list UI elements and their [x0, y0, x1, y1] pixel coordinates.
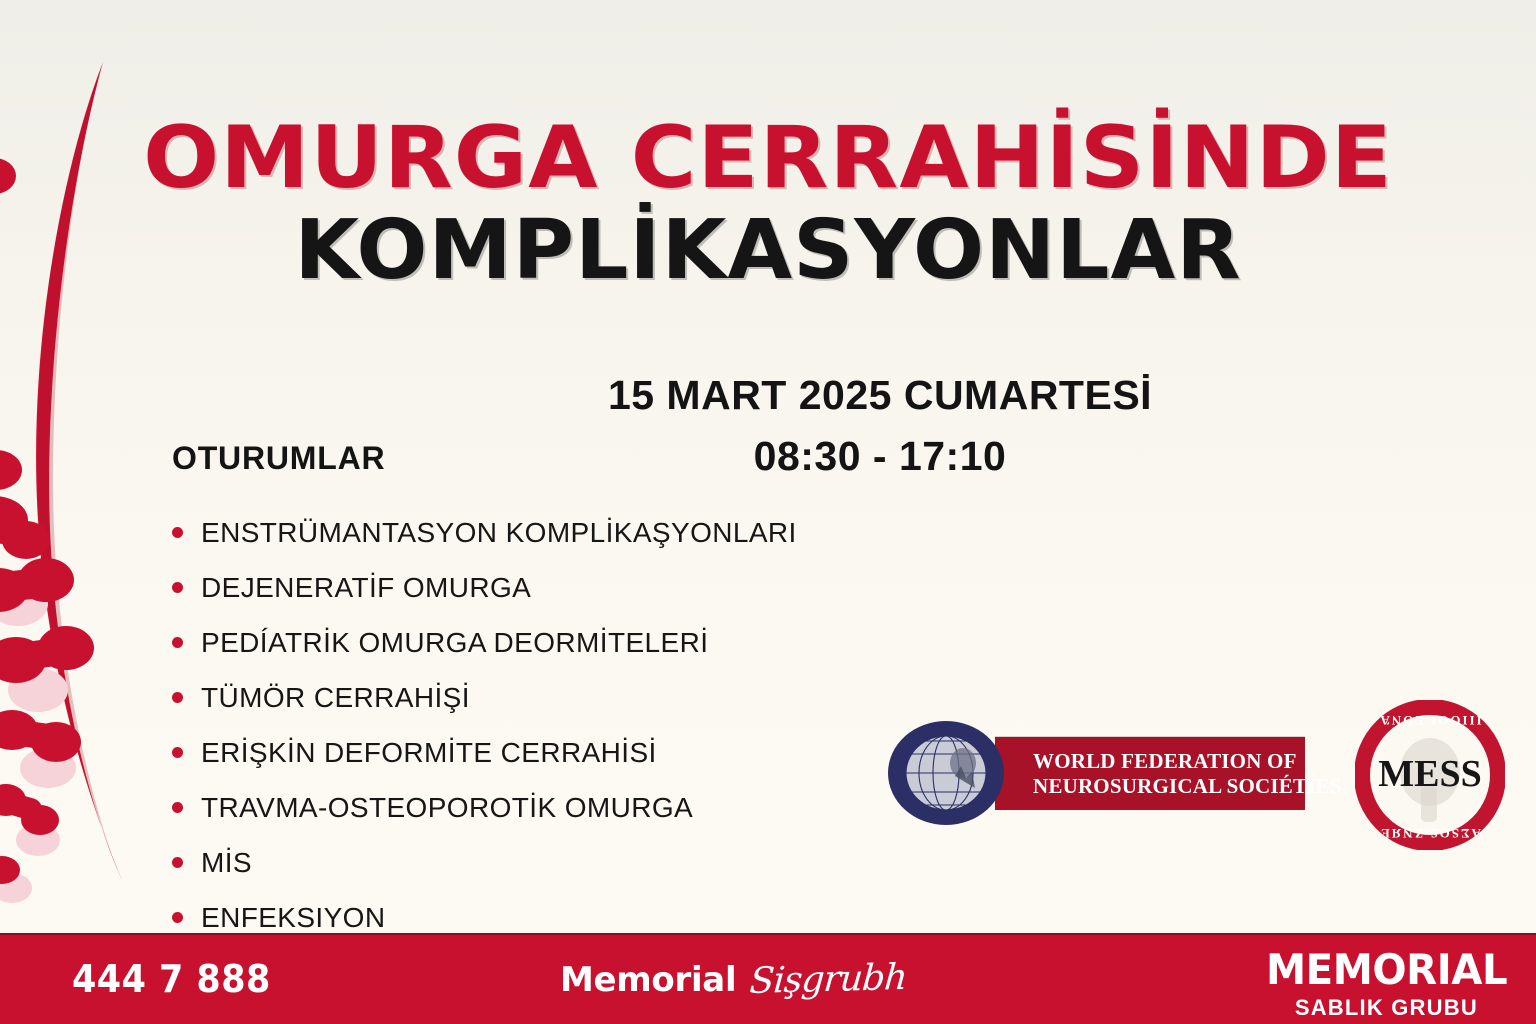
- session-item: DEJENERATİF OMURGA: [172, 560, 797, 615]
- session-label: MİS: [201, 847, 252, 879]
- event-time: 08:30 - 17:10: [430, 433, 1330, 480]
- footer-memorial-word: Memorial: [560, 960, 736, 1000]
- session-item: PEDÍATRİK OMURGA DEORMİTELERİ: [172, 615, 797, 670]
- footer-script-word: Sişgrubh: [749, 957, 909, 1002]
- session-label: ENFEKSIYON: [201, 902, 385, 934]
- bullet-icon: [172, 692, 183, 703]
- session-item: ERİŞKİN DEFORMİTE CERRAHİSİ: [172, 725, 797, 780]
- wfns-line-1: WORLD FEDERATION OF: [1033, 749, 1305, 774]
- footer-phone-number[interactable]: 444 7 888: [72, 957, 271, 1001]
- wfns-globe-seal-icon: [885, 718, 1007, 828]
- title-line-2: KOMPLİKASYONLAR: [0, 210, 1536, 292]
- footer-bar: 444 7 888 Memorial Sişgrubh MEMORIAL SAB…: [0, 933, 1536, 1024]
- mess-logo: MESS ΙΙΙΟΟΙ ΕΟΝΆ ΆΣSOS ΖΝЯΕ: [1355, 700, 1505, 850]
- title-line-1: OMURGA CERRAHİSİNDE: [0, 118, 1536, 200]
- bullet-icon: [172, 802, 183, 813]
- session-item: TÜMÖR CERRAHİŞİ: [172, 670, 797, 725]
- footer-brand-sub: SABLIK GRUBU: [1261, 997, 1512, 1019]
- bullet-icon: [172, 747, 183, 758]
- wfns-logo: WORLD FEDERATION OF NEUROSURGICAL SOCIÉT…: [885, 718, 1305, 830]
- svg-text:ΆΣSOS ΖΝЯΕ: ΆΣSOS ΖΝЯΕ: [1379, 826, 1481, 841]
- poster-root: OMURGA CERRAHİSİNDE KOMPLİKASYONLAR 15 M…: [0, 0, 1536, 1024]
- session-label: TRAVMA-OSTEOPOROTİK OMURGA: [201, 792, 693, 824]
- session-item: MİS: [172, 835, 797, 890]
- session-label: ERİŞKİN DEFORMİTE CERRAHİSİ: [201, 737, 657, 769]
- bullet-icon: [172, 637, 183, 648]
- mess-wordmark: MESS: [1378, 753, 1481, 795]
- bullet-icon: [172, 527, 183, 538]
- footer-brand-main: MEMORIAL: [1266, 949, 1507, 991]
- session-label: PEDÍATRİK OMURGA DEORMİTELERİ: [201, 627, 708, 659]
- logo-row: WORLD FEDERATION OF NEUROSURGICAL SOCIÉT…: [880, 700, 1520, 865]
- sessions-list: ENSTRÜMANTASYON KOMPLİKAŞYONLARI DEJENER…: [172, 505, 797, 945]
- session-label: ENSTRÜMANTASYON KOMPLİKAŞYONLARI: [201, 517, 797, 549]
- session-item: ENSTRÜMANTASYON KOMPLİKAŞYONLARI: [172, 505, 797, 560]
- event-datetime-block: 15 MART 2025 CUMARTESİ 08:30 - 17:10: [430, 372, 1330, 480]
- wfns-line-2: NEUROSURGICAL SOCIÉTÍES: [1033, 774, 1305, 799]
- event-date: 15 MART 2025 CUMARTESİ: [430, 372, 1330, 419]
- headline-block: OMURGA CERRAHİSİNDE KOMPLİKASYONLAR: [0, 118, 1536, 292]
- session-item: TRAVMA-OSTEOPOROTİK OMURGA: [172, 780, 797, 835]
- bullet-icon: [172, 912, 183, 923]
- footer-center-brand: Memorial Sişgrubh: [560, 959, 907, 1000]
- svg-text:ΙΙΙΟΟΙ ΕΟΝΆ: ΙΙΙΟΟΙ ΕΟΝΆ: [1378, 713, 1481, 728]
- wfns-name-band: WORLD FEDERATION OF NEUROSURGICAL SOCIÉT…: [995, 736, 1305, 810]
- session-label: TÜMÖR CERRAHİŞİ: [201, 682, 470, 714]
- session-label: DEJENERATİF OMURGA: [201, 572, 531, 604]
- disc-shapes: [0, 582, 76, 903]
- bullet-icon: [172, 582, 183, 593]
- sessions-heading: OTURUMLAR: [172, 440, 385, 477]
- bullet-icon: [172, 857, 183, 868]
- footer-brand-logo: MEMORIAL SABLIK GRUBU: [1261, 949, 1512, 1019]
